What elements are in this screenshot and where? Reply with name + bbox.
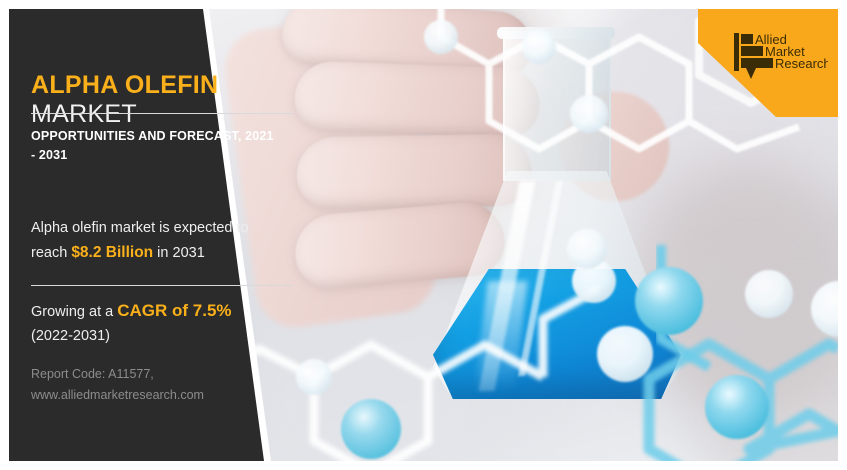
flask-lip: [497, 27, 615, 39]
divider-bottom: [31, 285, 293, 286]
title-rest: MARKET: [31, 100, 137, 128]
primary-stat-value: $8.2 Billion: [71, 244, 153, 261]
report-code: Report Code: A11577,: [31, 364, 281, 385]
secondary-stat-prefix: Growing at a: [31, 304, 117, 320]
secondary-stat-period: (2022-2031): [31, 328, 110, 344]
logo-line-3: Research: [775, 56, 828, 71]
erlenmeyer-flask: [441, 31, 671, 401]
primary-stat-suffix: in 2031: [153, 245, 205, 261]
speech-bubble-bars-icon: Allied Market Research: [732, 31, 828, 83]
flask-neck: [503, 31, 611, 181]
panel-content: ALPHA OLEFIN MARKET OPPORTUNITIES AND FO…: [9, 9, 309, 461]
primary-stat: Alpha olefin market is expected to reach…: [31, 217, 283, 266]
website-url[interactable]: www.alliedmarketresearch.com: [31, 385, 281, 406]
report-cover-card: ALPHA OLEFIN MARKET OPPORTUNITIES AND FO…: [9, 9, 838, 461]
divider-top: [31, 113, 293, 114]
report-subtitle: OPPORTUNITIES AND FORECAST, 2021 - 2031: [31, 127, 281, 166]
report-meta: Report Code: A11577, www.alliedmarketres…: [31, 364, 281, 406]
title-highlight: ALPHA OLEFIN: [31, 71, 218, 99]
secondary-stat-value: CAGR of 7.5%: [117, 301, 231, 320]
allied-market-research-logo[interactable]: Allied Market Research: [732, 31, 828, 83]
page-title: ALPHA OLEFIN MARKET: [31, 71, 309, 129]
secondary-stat: Growing at a CAGR of 7.5% (2022-2031): [31, 297, 283, 348]
